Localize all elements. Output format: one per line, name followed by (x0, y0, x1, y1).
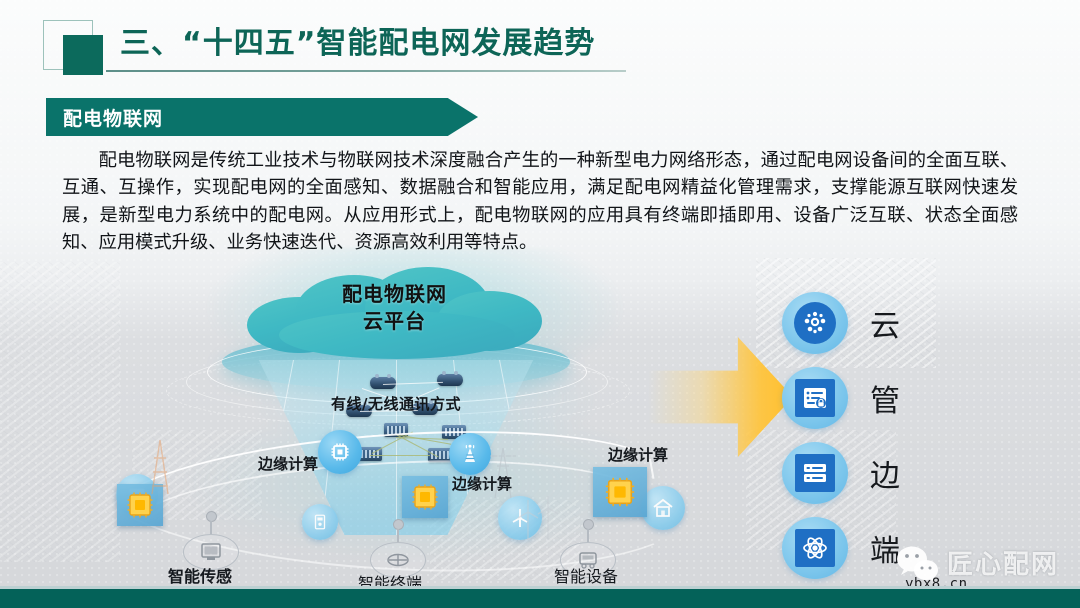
capability-item-cloud[interactable]: 云 (782, 285, 902, 360)
server-lock-icon (782, 367, 848, 429)
cloud-nodes-icon (782, 292, 848, 354)
edge-node-chip-tile (593, 467, 647, 517)
capability-label-edge: 边 (870, 451, 902, 495)
cloud-platform-text: 配电物联网 云平台 (247, 281, 542, 335)
edge-node-chip-tile (402, 476, 448, 518)
router-icon (437, 374, 463, 386)
body-paragraph: 配电物联网是传统工业技术与物联网技术深度融合产生的一种新型电力网络形态，通过配电… (62, 147, 1018, 257)
title-underline (106, 70, 626, 72)
edge-computing-label-3: 边缘计算 (608, 444, 668, 465)
communication-label: 有线/无线通讯方式 (296, 393, 496, 414)
capability-column: 云 管 (782, 285, 902, 585)
cloud-label-line2: 云平台 (247, 308, 542, 335)
bottom-label-smart-sensing: 智能传感 (168, 563, 232, 587)
edge-computing-label-2: 边缘计算 (452, 473, 512, 494)
cloud-label-line1: 配电物联网 (247, 281, 542, 308)
bottom-label-smart-device: 智能设备 (554, 563, 618, 587)
capability-item-pipe[interactable]: 管 (782, 360, 902, 435)
edge-computing-label-1: 边缘计算 (258, 453, 318, 474)
capability-item-edge[interactable]: 边 (782, 435, 902, 510)
footer-bar (0, 589, 1080, 608)
architecture-illustration: 配电物联网 云平台 有线/无线通讯方式 (0, 248, 1080, 588)
antenna-tower-bubble-icon (449, 433, 491, 475)
meter-bubble-icon (302, 504, 338, 540)
smart-sensor-pin (183, 512, 239, 570)
capability-item-terminal[interactable]: 端 (782, 510, 902, 585)
section-banner: 配电物联网 (46, 98, 478, 136)
house-bubble-icon (641, 486, 685, 530)
chip-bubble-icon (318, 430, 362, 474)
capability-label-pipe: 管 (870, 376, 902, 420)
wind-turbine-icon (518, 490, 562, 542)
section-banner-label: 配电物联网 (63, 104, 163, 131)
slide-root: 三、“十四五”智能配电网发展趋势 配电物联网 配电物联网是传统工业技术与物联网技… (0, 0, 1080, 608)
decor-square-solid (63, 35, 103, 75)
server-rack-icon (782, 442, 848, 504)
capability-label-cloud: 云 (870, 301, 902, 345)
transmission-pylon-icon (148, 438, 172, 496)
page-title: 三、“十四五”智能配电网发展趋势 (120, 18, 595, 62)
cloud-platform-shape: 配电物联网 云平台 (247, 267, 542, 359)
slide-header: 三、“十四五”智能配电网发展趋势 (0, 0, 1080, 92)
atom-icon (782, 517, 848, 579)
